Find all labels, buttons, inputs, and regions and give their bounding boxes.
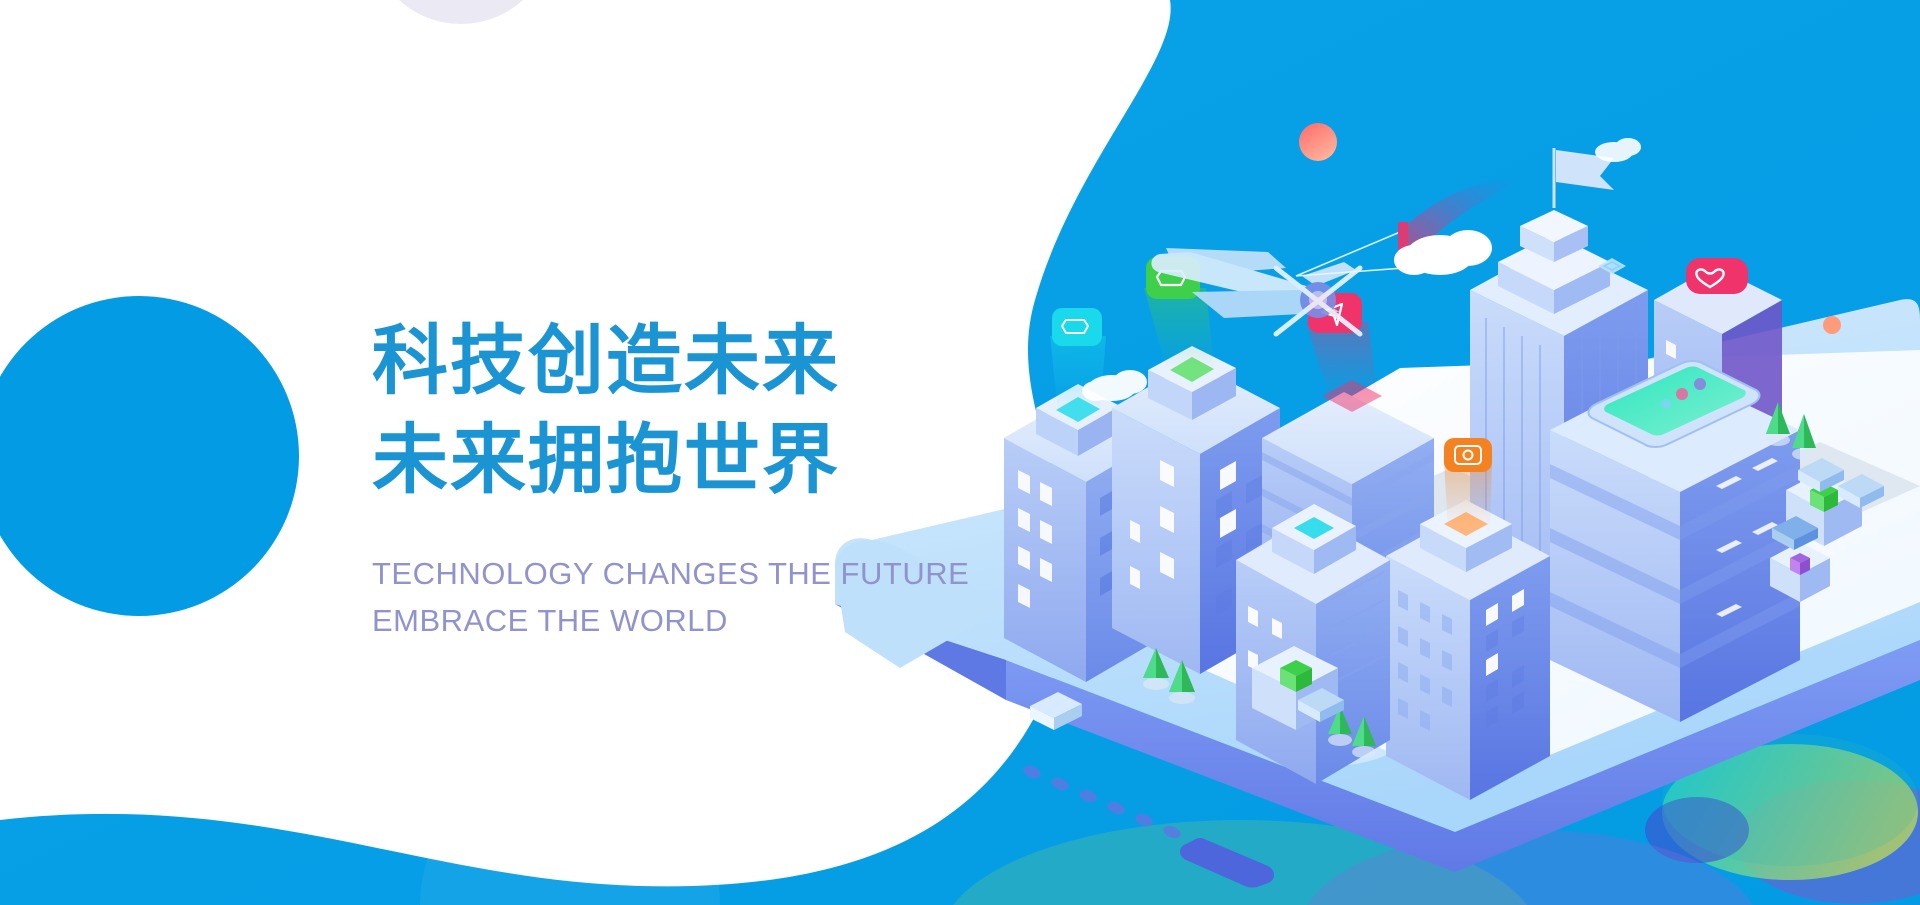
hero-copy: 科技创造未来 未来拥抱世界 TECHNOLOGY CHANGES THE FUT… — [372, 312, 1012, 644]
heart-icon — [1686, 258, 1748, 294]
small-dot — [1823, 316, 1841, 334]
headline-line-1: 科技创造未来 — [372, 312, 1012, 411]
sun-dot — [1299, 123, 1337, 161]
building-tiered-block — [1550, 361, 1800, 722]
beam-orange — [1444, 438, 1492, 528]
subhead-line-2: EMBRACE THE WORLD — [372, 597, 1012, 644]
page-subtitle: TECHNOLOGY CHANGES THE FUTURE EMBRACE TH… — [372, 550, 1012, 644]
hero-banner: 科技创造未来 未来拥抱世界 TECHNOLOGY CHANGES THE FUT… — [0, 0, 1920, 905]
subhead-line-1: TECHNOLOGY CHANGES THE FUTURE — [372, 550, 1012, 597]
bldB-left — [1112, 408, 1200, 674]
building-orange-tower — [1386, 500, 1550, 800]
headline-line-2: 未来拥抱世界 — [372, 411, 1012, 510]
camera-icon — [1444, 438, 1492, 472]
chat-icon — [1052, 308, 1102, 346]
page-title: 科技创造未来 未来拥抱世界 — [372, 312, 1012, 510]
